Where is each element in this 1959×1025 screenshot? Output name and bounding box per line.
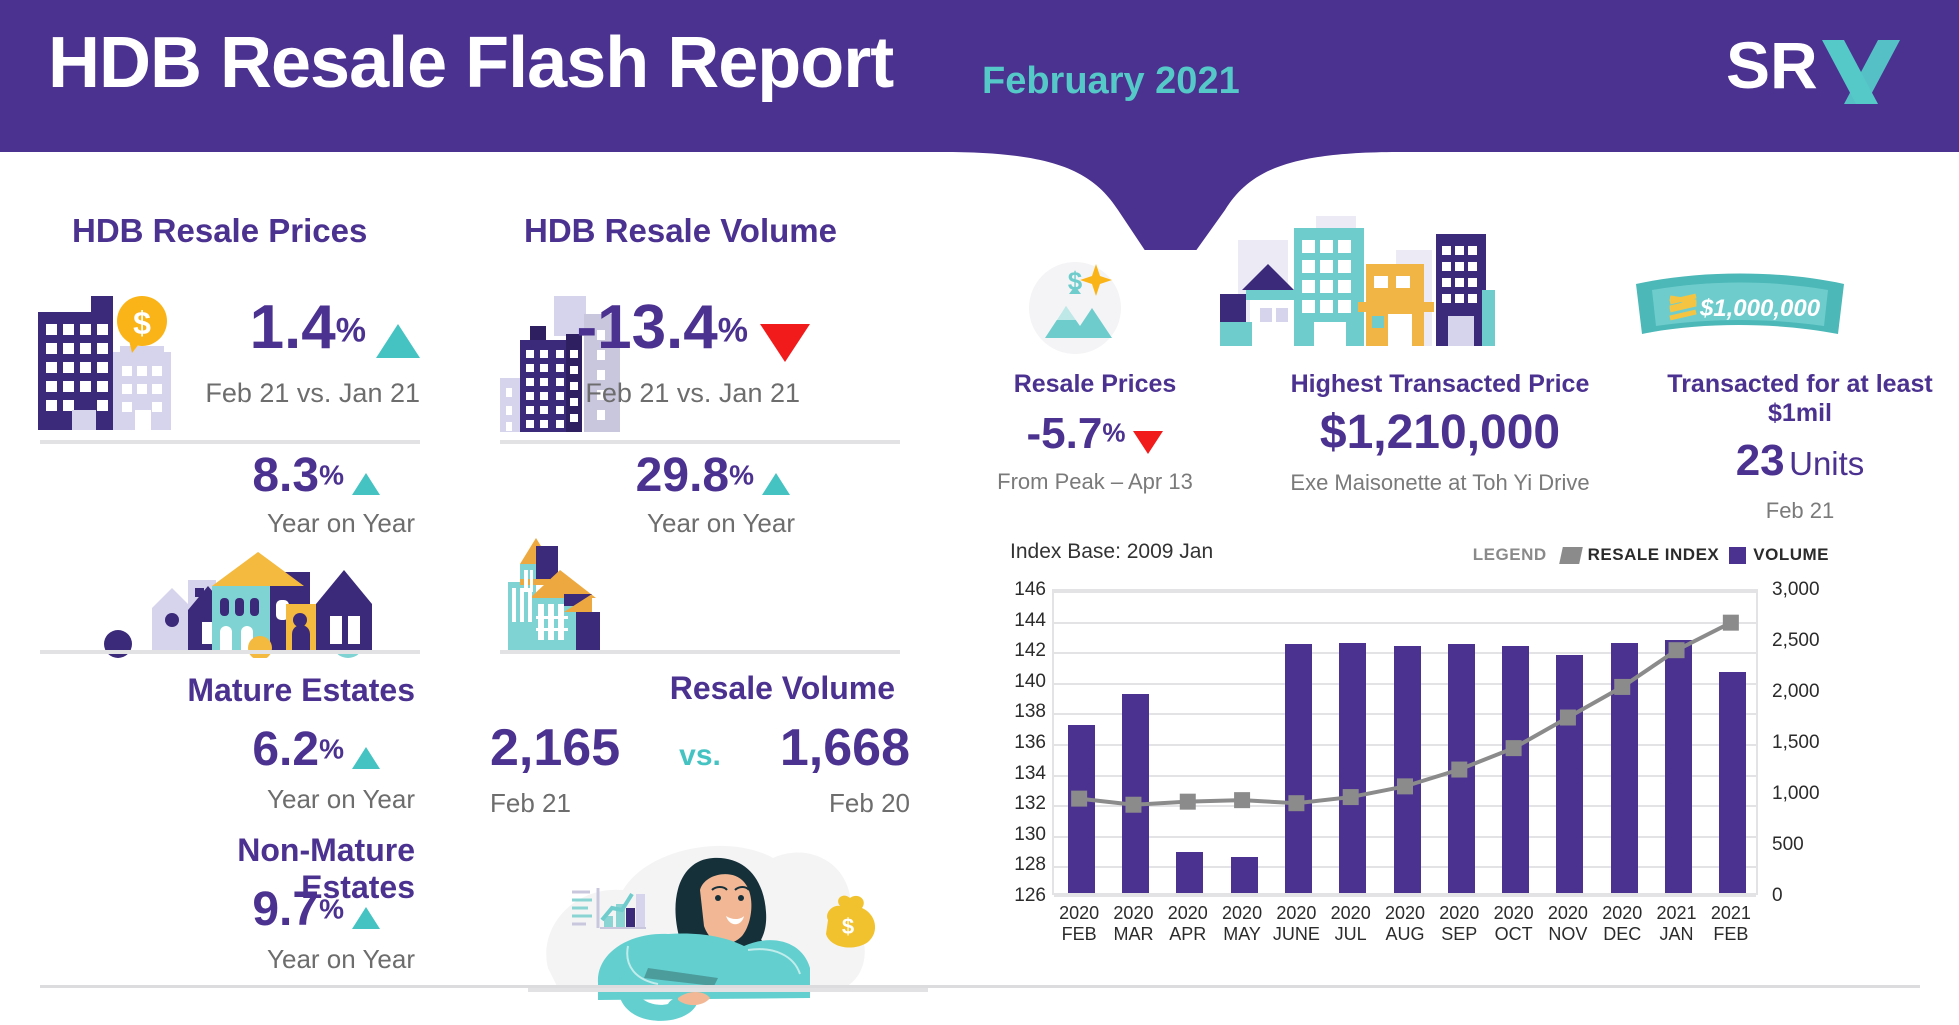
percent-symbol: %	[729, 460, 754, 491]
footer-divider	[40, 985, 1920, 988]
card-caption: Feb 21	[1645, 498, 1955, 524]
volume-section-title: HDB Resale Volume	[524, 212, 837, 250]
srx-logo: SR	[1726, 26, 1901, 106]
right-axis-tick: 500	[1772, 834, 1804, 856]
percent-symbol: %	[319, 460, 344, 491]
buildings-with-dollar-icon: $	[36, 288, 186, 438]
mature-estates-figure: 6.2%	[160, 722, 380, 777]
card-value-row: $1,210,000	[1230, 405, 1650, 460]
non-mature-estates-figure: 9.7%	[160, 882, 380, 937]
card-transacted-above-1mil: Transacted for at least $1mil 23 Units F…	[1645, 370, 1955, 524]
x-axis-tick: 2020APR	[1161, 903, 1215, 944]
prices-primary-caption: Feb 21 vs. Jan 21	[120, 378, 420, 409]
card-unit: Units	[1789, 445, 1864, 482]
card-value: -5.7	[1027, 409, 1103, 458]
card-value-row: -5.7%	[960, 409, 1230, 459]
non-mature-estates-caption: Year on Year	[120, 944, 415, 975]
card-title: Resale Prices	[960, 370, 1230, 399]
x-axis-tick: 2020OCT	[1487, 903, 1541, 944]
trend-up-icon	[352, 473, 380, 495]
resale-volume-current-label: Feb 21	[490, 788, 571, 819]
prices-primary-value: 1.4	[250, 293, 336, 362]
card-title: Transacted for at least $1mil	[1645, 370, 1955, 428]
svg-text:SR: SR	[1726, 28, 1818, 102]
chart-right-axis-labels: 3,0002,5002,0001,5001,0005000	[1772, 579, 1862, 901]
legend-line-swatch-icon	[1559, 547, 1583, 564]
chart-bar	[1231, 857, 1258, 893]
x-axis-tick: 2020NOV	[1541, 903, 1595, 944]
apartment-blocks-icon	[500, 532, 620, 654]
right-axis-tick: 2,000	[1772, 681, 1820, 703]
volume-primary-figure: -13.4%	[560, 292, 810, 364]
prices-primary-figure: 1.4%	[200, 292, 420, 364]
percent-symbol: %	[319, 894, 344, 925]
divider	[40, 440, 420, 444]
chart-plot-area	[1052, 589, 1758, 895]
chart-bar	[1068, 725, 1095, 893]
x-axis-tick: 2020AUG	[1378, 903, 1432, 944]
chart-left-axis-labels: 146144142140138136134132130128126	[1000, 579, 1046, 901]
prices-yoy-caption: Year on Year	[120, 508, 415, 539]
percent-symbol: %	[336, 312, 366, 350]
trend-up-icon	[762, 473, 790, 495]
x-axis-tick: 2021JAN	[1650, 903, 1704, 944]
chart-gridline	[1054, 622, 1756, 624]
vs-label: vs.	[679, 739, 721, 773]
x-axis-tick: 2021FEB	[1704, 903, 1758, 944]
trend-up-icon	[352, 907, 380, 929]
chart-bar	[1502, 646, 1529, 893]
chart-gridline	[1054, 895, 1756, 897]
trend-down-icon	[1133, 431, 1163, 454]
card-value: $1,210,000	[1320, 406, 1560, 459]
chart-index-base-note: Index Base: 2009 Jan	[1010, 540, 1213, 564]
left-axis-tick: 146	[1014, 579, 1046, 601]
volume-yoy-figure: 29.8%	[540, 448, 790, 503]
x-axis-tick: 2020JUL	[1324, 903, 1378, 944]
chart-bar	[1448, 644, 1475, 893]
houses-row-icon	[100, 548, 390, 658]
chart-bar	[1176, 852, 1203, 893]
right-axis-tick: 1,000	[1772, 783, 1820, 805]
card-resale-prices: Resale Prices -5.7% From Peak – Apr 13	[960, 370, 1230, 495]
left-axis-tick: 126	[1014, 885, 1046, 907]
mature-estates-caption: Year on Year	[120, 784, 415, 815]
x-axis-tick: 2020MAR	[1106, 903, 1160, 944]
card-value: 23	[1736, 436, 1785, 485]
trend-down-icon	[760, 324, 810, 362]
chart-gridline	[1054, 591, 1756, 593]
chart-bar	[1394, 646, 1421, 893]
x-axis-tick: 2020DEC	[1595, 903, 1649, 944]
resale-volume-heading: Resale Volume	[500, 670, 895, 707]
legend-line-label: RESALE INDEX	[1588, 545, 1720, 564]
chart-bar	[1665, 640, 1692, 893]
right-axis-tick: 2,500	[1772, 630, 1820, 652]
left-axis-tick: 136	[1014, 732, 1046, 754]
left-axis-tick: 128	[1014, 854, 1046, 876]
page-title: HDB Resale Flash Report	[48, 22, 893, 104]
x-axis-tick: 2020MAY	[1215, 903, 1269, 944]
legend-bar-swatch-icon	[1729, 547, 1746, 564]
card-highest-transacted-price: Highest Transacted Price $1,210,000 Exe …	[1230, 370, 1650, 496]
card-title: Highest Transacted Price	[1230, 370, 1650, 399]
percent-symbol: %	[319, 734, 344, 765]
mature-estates-heading: Mature Estates	[120, 672, 415, 709]
right-axis-tick: 3,000	[1772, 579, 1820, 601]
card-caption: Exe Maisonette at Toh Yi Drive	[1230, 470, 1650, 496]
card-value-row: 23 Units	[1645, 436, 1955, 486]
right-axis-tick: 1,500	[1772, 732, 1820, 754]
trend-up-icon	[376, 324, 420, 358]
volume-yoy-value: 29.8	[636, 449, 729, 502]
volume-primary-caption: Feb 21 vs. Jan 21	[500, 378, 800, 409]
svg-text:$: $	[842, 914, 854, 939]
left-axis-tick: 130	[1014, 824, 1046, 846]
resale-volume-previous-label: Feb 20	[829, 788, 910, 819]
report-period: February 2021	[982, 60, 1240, 103]
trend-up-icon	[352, 747, 380, 769]
woman-with-charts-illustration: $	[528, 828, 928, 1025]
left-axis-tick: 134	[1014, 763, 1046, 785]
non-mature-estates-value: 9.7	[252, 883, 319, 936]
chart-legend: LEGENDRESALE INDEXVOLUME	[1473, 545, 1829, 565]
svg-text:$: $	[1068, 266, 1083, 296]
resale-volume-current: 2,165	[490, 718, 620, 778]
chart-bar	[1611, 643, 1638, 893]
x-axis-tick: 2020FEB	[1052, 903, 1106, 944]
chart-bar	[1556, 655, 1583, 893]
percent-symbol: %	[1102, 418, 1125, 448]
chart-bar	[1285, 644, 1312, 893]
left-axis-tick: 142	[1014, 640, 1046, 662]
left-axis-tick: 144	[1014, 610, 1046, 632]
percent-symbol: %	[718, 312, 748, 350]
volume-primary-value: -13.4	[576, 293, 717, 362]
city-skyline-icon	[1220, 198, 1495, 358]
prices-yoy-value: 8.3	[252, 449, 319, 502]
divider	[500, 650, 900, 654]
right-axis-tick: 0	[1772, 885, 1783, 907]
legend-label: LEGEND	[1473, 545, 1547, 564]
resale-volume-comparison: 2,165 vs. 1,668	[490, 718, 910, 778]
legend-bar-label: VOLUME	[1753, 545, 1829, 564]
x-axis-tick: 2020SEP	[1432, 903, 1486, 944]
chart-bar	[1719, 672, 1746, 893]
prices-section-title: HDB Resale Prices	[72, 212, 367, 250]
money-mountain-icon: $	[1020, 250, 1130, 360]
card-caption: From Peak – Apr 13	[960, 469, 1230, 495]
prices-primary-caption-text: Feb 21 vs. Jan 21	[205, 378, 420, 408]
chart-bar	[1122, 694, 1149, 893]
banknote-icon: $1,000,000	[1630, 268, 1850, 344]
x-axis-tick: 2020JUNE	[1269, 903, 1323, 944]
divider	[40, 650, 420, 654]
svg-text:$: $	[133, 305, 151, 341]
divider	[500, 440, 900, 444]
svg-text:$1,000,000: $1,000,000	[1699, 295, 1821, 322]
resale-volume-period-labels: Feb 21 Feb 20	[490, 788, 910, 819]
mature-estates-value: 6.2	[252, 723, 319, 776]
chart-bar	[1339, 643, 1366, 893]
left-axis-tick: 132	[1014, 793, 1046, 815]
resale-volume-previous: 1,668	[780, 718, 910, 778]
left-axis-tick: 140	[1014, 671, 1046, 693]
prices-yoy-figure: 8.3%	[160, 448, 380, 503]
left-axis-tick: 138	[1014, 701, 1046, 723]
